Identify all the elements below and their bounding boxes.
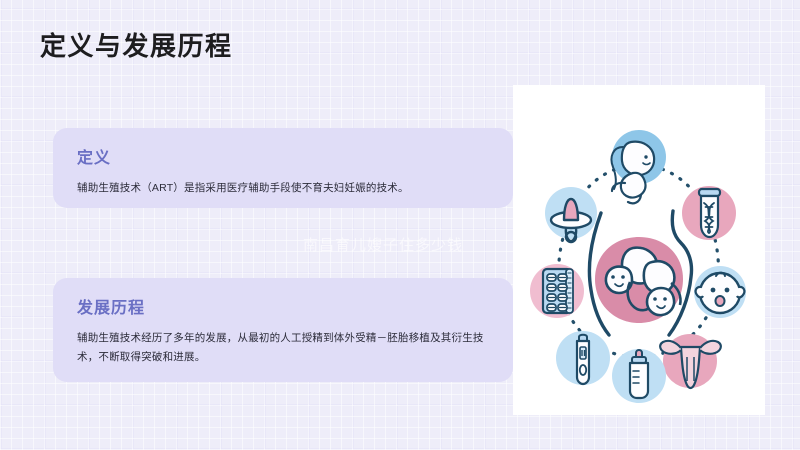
slide-root: 定义与发展历程 定义 辅助生殖技术（ART）是指采用医疗辅助手段使不育夫妇妊娠的… bbox=[0, 0, 800, 450]
twins-in-womb-icon bbox=[595, 237, 683, 323]
pregnancy-test-icon bbox=[556, 331, 610, 385]
watermark-text: 南昌育儿嫂子住多少钱 bbox=[303, 236, 463, 256]
dna-test-tube-icon bbox=[682, 186, 736, 240]
pacifier-icon bbox=[545, 187, 597, 242]
baby-face-icon bbox=[694, 266, 746, 318]
card-history: 发展历程 辅助生殖技术经历了多年的发展，从最初的人工授精到体外受精－胚胎移植及其… bbox=[53, 278, 513, 382]
pill-blister-icon bbox=[530, 264, 584, 318]
card-definition: 定义 辅助生殖技术（ART）是指采用医疗辅助手段使不育夫妇妊娠的技术。 bbox=[53, 128, 513, 208]
fetus-icon bbox=[611, 130, 666, 203]
card-definition-body: 辅助生殖技术（ART）是指采用医疗辅助手段使不育夫妇妊娠的技术。 bbox=[77, 179, 489, 198]
fertility-illustration bbox=[513, 85, 765, 415]
baby-bottle-icon bbox=[612, 349, 666, 403]
uterus-icon bbox=[660, 334, 721, 388]
page-title: 定义与发展历程 bbox=[40, 29, 233, 63]
card-definition-heading: 定义 bbox=[77, 148, 489, 170]
card-history-body: 辅助生殖技术经历了多年的发展，从最初的人工授精到体外受精－胚胎移植及其衍生技术，… bbox=[77, 329, 489, 367]
illustration-panel bbox=[513, 85, 765, 415]
card-history-heading: 发展历程 bbox=[77, 298, 489, 320]
